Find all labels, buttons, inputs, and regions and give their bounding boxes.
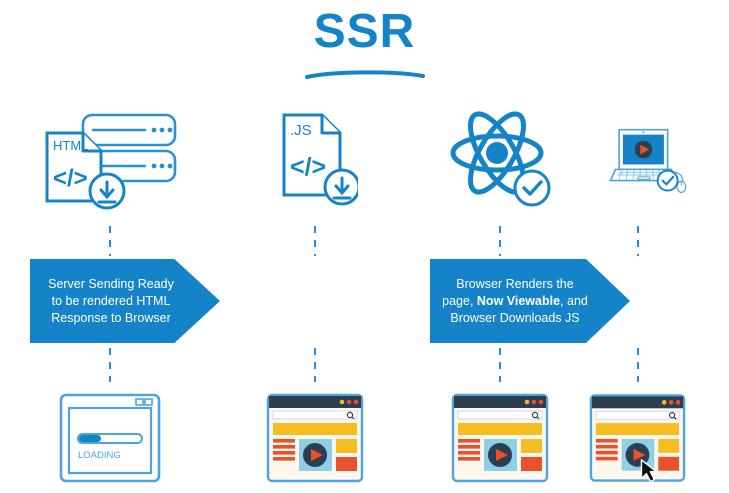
loading-label: LOADING [78,450,121,461]
js-file-label: .JS [290,122,312,139]
connector-dash-top-2 [314,226,316,256]
step-3-icon [425,98,575,216]
browser-interactive-cursor-mockup [585,390,690,486]
code-glyph: </> [290,153,326,181]
ssr-diagram: SSR HTML [0,0,729,493]
html-file-label: HTML [53,138,88,153]
connector-dash-top-3 [499,226,501,256]
step-1-banner: Server Sending Ready to be rendered HTML… [30,259,220,343]
banner-1-line-1: Server Sending Ready [48,277,174,291]
step-2-icon: .JS </> [215,98,415,216]
step-3-mockup [425,388,575,488]
laptop-play-check-mouse-icon [603,101,690,213]
connector-dash-top-4 [637,226,639,256]
connector-dash-bottom-3 [499,348,501,382]
browser-loading-mockup: LOADING [56,390,164,486]
step-4-icon [585,98,690,216]
step-column-1: HTML </> Server Sending Ready to be rend… [15,0,205,493]
step-column-2: .JS </> Browser Renders the page, Now Vi… [215,0,415,493]
connector-dash-bottom-4 [637,348,639,382]
step-column-4: Page Now Interactable [585,0,690,493]
react-atom-check-icon [445,101,555,213]
server-html-download-icon: HTML </> [35,101,185,213]
step-2-mockup [215,388,415,488]
js-file-download-icon: .JS </> [272,101,358,213]
browser-rendered-mockup [447,390,553,486]
connector-dash-bottom-2 [314,348,316,382]
banner-1-line-2: to be rendered HTML [52,294,171,308]
browser-rendered-mockup [262,390,368,486]
connector-dash-top-1 [109,226,111,256]
code-glyph: </> [53,165,88,192]
connector-dash-bottom-1 [109,348,111,382]
banner-1-line-3: Response to Browser [51,311,171,325]
step-1-mockup: LOADING [15,388,205,488]
step-1-icon: HTML </> [15,98,205,216]
step-column-3: Browser executes React [425,0,575,493]
step-4-mockup [585,388,690,488]
